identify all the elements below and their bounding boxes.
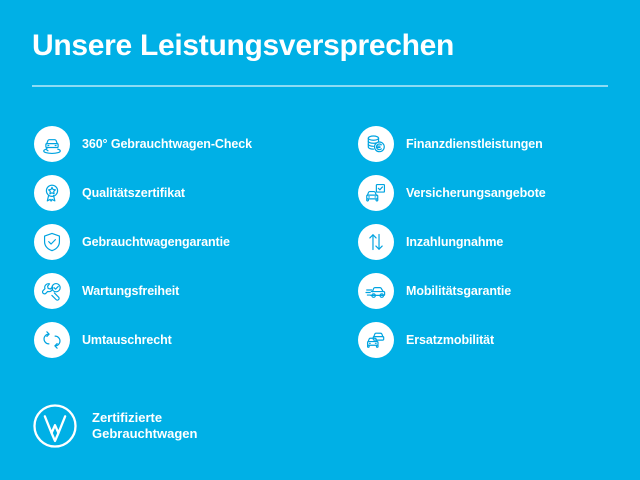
benefit-label: Gebrauchtwagengarantie: [82, 235, 230, 249]
benefit-label: Qualitätszertifikat: [82, 186, 185, 200]
logo-text: Zertifizierte Gebrauchtwagen: [92, 410, 197, 442]
shield-check-icon: [34, 224, 70, 260]
benefit-item-mobilitaetsgarantie[interactable]: Mobilitätsgarantie: [358, 273, 546, 309]
benefit-item-finanzdienstleistungen[interactable]: Finanzdienstleistungen: [358, 126, 546, 162]
award-rosette-icon: [34, 175, 70, 211]
wrench-check-icon: [34, 273, 70, 309]
benefit-label: Umtauschrecht: [82, 333, 172, 347]
benefit-item-umtauschrecht[interactable]: Umtauschrecht: [34, 322, 252, 358]
benefit-item-ersatzmobilitaet[interactable]: Ersatzmobilität: [358, 322, 546, 358]
benefit-label: Inzahlungnahme: [406, 235, 503, 249]
two-cars-icon: [358, 322, 394, 358]
benefit-item-versicherungsangebote[interactable]: Versicherungsangebote: [358, 175, 546, 211]
benefit-label: Wartungsfreiheit: [82, 284, 179, 298]
benefit-label: Mobilitätsgarantie: [406, 284, 511, 298]
benefit-item-inzahlungnahme[interactable]: Inzahlungnahme: [358, 224, 546, 260]
promo-panel: Unsere Leistungsversprechen 360° Gebrauc…: [0, 0, 640, 480]
coins-euro-icon: [358, 126, 394, 162]
benefit-label: Versicherungsangebote: [406, 186, 546, 200]
car-motion-icon: [358, 273, 394, 309]
benefit-item-360-check[interactable]: 360° Gebrauchtwagen-Check: [34, 126, 252, 162]
benefit-label: Ersatzmobilität: [406, 333, 494, 347]
benefit-item-wartungsfreiheit[interactable]: Wartungsfreiheit: [34, 273, 252, 309]
benefit-list-right: Finanzdienstleistungen Versicherungsange…: [358, 126, 546, 371]
up-down-arrows-icon: [358, 224, 394, 260]
page-title: Unsere Leistungsversprechen: [32, 29, 454, 63]
logo-lockup: Zertifizierte Gebrauchtwagen: [32, 403, 197, 449]
benefit-list-left: 360° Gebrauchtwagen-Check Qualitätszerti…: [34, 126, 252, 371]
swap-arrows-icon: [34, 322, 70, 358]
title-divider: [32, 85, 608, 87]
vw-roundel-logo: [32, 403, 78, 449]
benefit-label: Finanzdienstleistungen: [406, 137, 543, 151]
logo-text-line1: Zertifizierte: [92, 410, 162, 425]
benefit-label: 360° Gebrauchtwagen-Check: [82, 137, 252, 151]
car-360-check-icon: [34, 126, 70, 162]
car-document-check-icon: [358, 175, 394, 211]
benefit-item-gebrauchtwagengarantie[interactable]: Gebrauchtwagengarantie: [34, 224, 252, 260]
logo-text-line2: Gebrauchtwagen: [92, 426, 197, 441]
benefit-item-qualitaetszertifikat[interactable]: Qualitätszertifikat: [34, 175, 252, 211]
